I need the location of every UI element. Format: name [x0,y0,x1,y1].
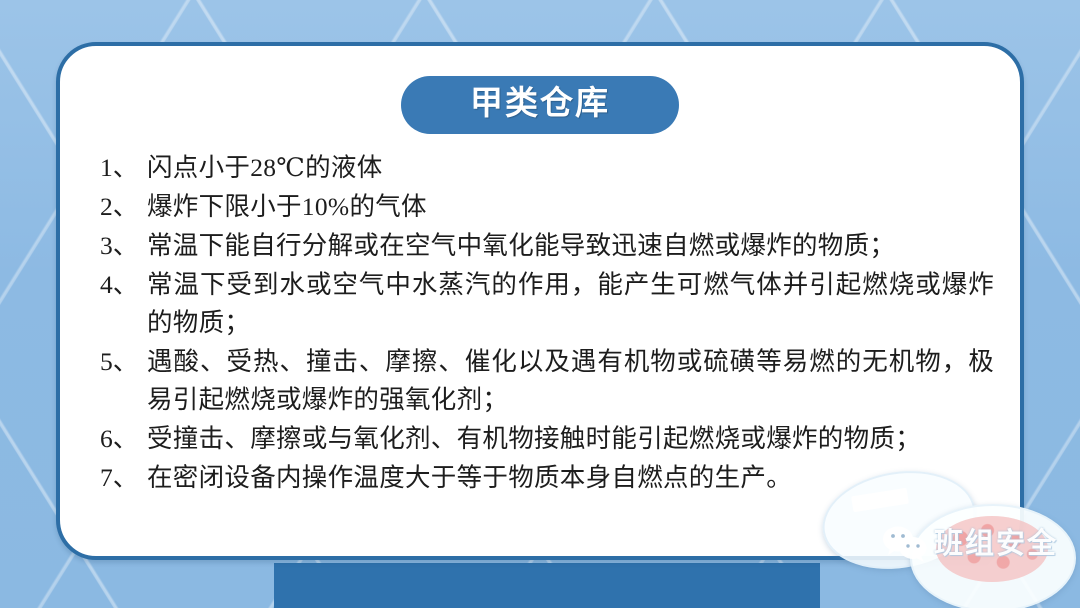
list-item: 4、 常温下受到水或空气中水蒸汽的作用，能产生可燃气体并引起燃烧或爆炸的物质； [100,266,994,342]
list-item-number: 3、 [100,227,147,265]
list-item-number: 2、 [100,188,147,226]
page-title: 甲类仓库 [441,83,639,123]
slide-canvas: 甲类仓库 1、 闪点小于28℃的液体 2、 爆炸下限小于10%的气体 3、 常温… [0,0,1080,608]
list-item-text: 常温下受到水或空气中水蒸汽的作用，能产生可燃气体并引起燃烧或爆炸的物质； [147,266,994,342]
list-item: 3、 常温下能自行分解或在空气中氧化能导致迅速自燃或爆炸的物质； [100,227,994,265]
list-item-number: 7、 [100,459,147,497]
list-item-number: 5、 [100,343,147,381]
list-item: 1、 闪点小于28℃的液体 [100,149,994,187]
list-item: 6、 受撞击、摩擦或与氧化剂、有机物接触时能引起燃烧或爆炸的物质； [100,420,994,458]
list-item-text: 爆炸下限小于10%的气体 [147,188,994,226]
list-item: 5、 遇酸、受热、撞击、摩擦、催化以及遇有机物或硫磺等易燃的无机物，极易引起燃烧… [100,343,994,419]
list-item-number: 6、 [100,420,147,458]
list-item-text: 遇酸、受热、撞击、摩擦、催化以及遇有机物或硫磺等易燃的无机物，极易引起燃烧或爆炸… [147,343,994,419]
list-item-number: 4、 [100,266,147,304]
requirement-list: 1、 闪点小于28℃的液体 2、 爆炸下限小于10%的气体 3、 常温下能自行分… [100,149,994,498]
content-card: 甲类仓库 1、 闪点小于28℃的液体 2、 爆炸下限小于10%的气体 3、 常温… [56,42,1024,560]
list-item-text: 在密闭设备内操作温度大于等于物质本身自燃点的生产。 [147,459,994,497]
list-item-number: 1、 [100,149,147,187]
list-item-text: 常温下能自行分解或在空气中氧化能导致迅速自燃或爆炸的物质； [147,227,994,265]
bottom-accent-bar [274,563,820,608]
list-item-text: 闪点小于28℃的液体 [147,149,994,187]
list-item-text: 受撞击、摩擦或与氧化剂、有机物接触时能引起燃烧或爆炸的物质； [147,420,994,458]
list-item: 2、 爆炸下限小于10%的气体 [100,188,994,226]
list-item: 7、 在密闭设备内操作温度大于等于物质本身自燃点的生产。 [100,459,994,497]
title-pill: 甲类仓库 [401,76,679,134]
